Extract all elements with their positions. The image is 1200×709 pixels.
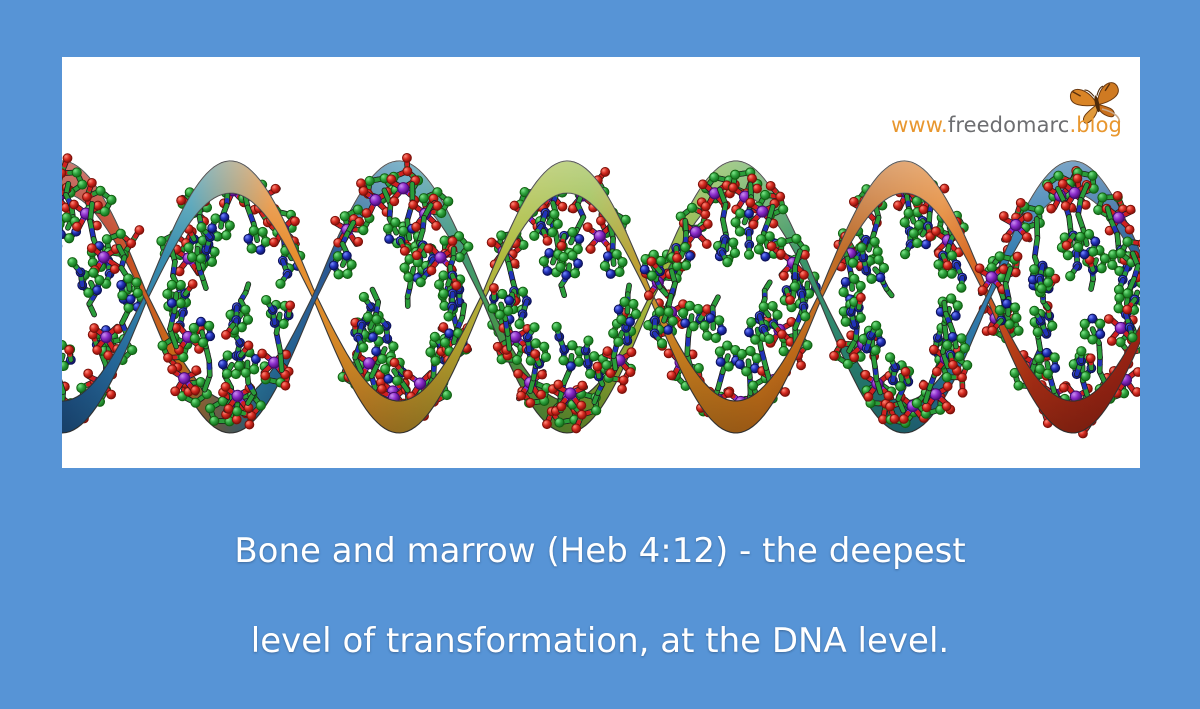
logo-text: www.freedomarc.blog [891, 113, 1122, 137]
logo-url-name: freedomarc [948, 113, 1070, 137]
poster-background: www.freedomarc.blog Bone and marrow (Heb… [0, 0, 1200, 630]
caption-line-2: level of transformation, at the DNA leve… [0, 619, 1200, 664]
caption-line-1: Bone and marrow (Heb 4:12) - the deepest [0, 529, 1200, 574]
logo-url-prefix: www. [891, 113, 948, 137]
image-panel: www.freedomarc.blog [62, 57, 1140, 468]
caption: Bone and marrow (Heb 4:12) - the deepest… [0, 484, 1200, 709]
logo-url-suffix: .blog [1069, 113, 1122, 137]
site-logo[interactable]: www.freedomarc.blog [915, 79, 1130, 141]
